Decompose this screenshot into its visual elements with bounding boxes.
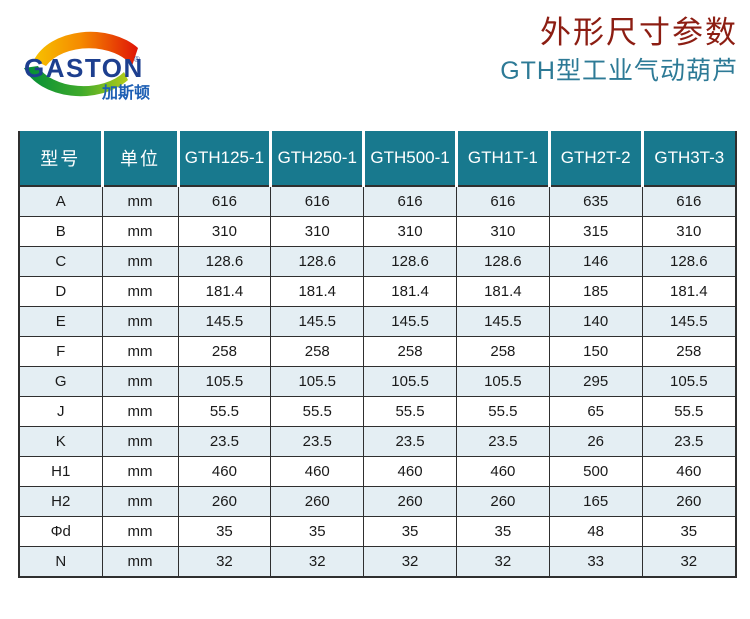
cell-value: 55.5 [642, 397, 735, 427]
cell-value: 616 [642, 186, 735, 217]
cell-value: 181.4 [271, 277, 364, 307]
table-row: Cmm128.6128.6128.6128.6146128.6 [20, 247, 735, 277]
cell-value: 105.5 [642, 367, 735, 397]
logo-chinese-name: 加斯顿 [101, 83, 150, 102]
gaston-logo: GASTON ® 加斯顿 [16, 22, 186, 104]
cell-value: 165 [549, 487, 642, 517]
cell-dimension-label: B [20, 217, 102, 247]
cell-unit: mm [102, 397, 178, 427]
cell-value: 105.5 [364, 367, 457, 397]
cell-value: 55.5 [271, 397, 364, 427]
column-header-model: 型号 [20, 131, 102, 186]
column-header-gth500-1: GTH500-1 [364, 131, 457, 186]
cell-unit: mm [102, 186, 178, 217]
cell-value: 26 [549, 427, 642, 457]
column-header-gth125-1: GTH125-1 [178, 131, 271, 186]
cell-unit: mm [102, 277, 178, 307]
cell-value: 185 [549, 277, 642, 307]
cell-value: 181.4 [456, 277, 549, 307]
cell-value: 310 [364, 217, 457, 247]
cell-dimension-label: Φd [20, 517, 102, 547]
cell-value: 145.5 [642, 307, 735, 337]
cell-value: 35 [271, 517, 364, 547]
table-row: Fmm258258258258150258 [20, 337, 735, 367]
cell-unit: mm [102, 217, 178, 247]
spec-table-container: 型号 单位 GTH125-1 GTH250-1 GTH500-1 GTH1T-1… [18, 131, 737, 578]
column-header-unit: 单位 [102, 131, 178, 186]
cell-value: 260 [364, 487, 457, 517]
cell-value: 48 [549, 517, 642, 547]
cell-unit: mm [102, 517, 178, 547]
cell-value: 32 [178, 547, 271, 577]
cell-value: 128.6 [271, 247, 364, 277]
cell-value: 258 [456, 337, 549, 367]
cell-value: 23.5 [271, 427, 364, 457]
cell-dimension-label: E [20, 307, 102, 337]
cell-value: 32 [271, 547, 364, 577]
column-header-gth2t-2: GTH2T-2 [549, 131, 642, 186]
table-row: Bmm310310310310315310 [20, 217, 735, 247]
cell-unit: mm [102, 307, 178, 337]
table-row: Φdmm353535354835 [20, 517, 735, 547]
column-header-gth3t-3: GTH3T-3 [642, 131, 735, 186]
cell-value: 616 [178, 186, 271, 217]
table-row: Emm145.5145.5145.5145.5140145.5 [20, 307, 735, 337]
cell-value: 55.5 [364, 397, 457, 427]
cell-value: 140 [549, 307, 642, 337]
cell-value: 258 [178, 337, 271, 367]
table-header-row: 型号 单位 GTH125-1 GTH250-1 GTH500-1 GTH1T-1… [20, 131, 735, 186]
cell-unit: mm [102, 457, 178, 487]
table-row: Nmm323232323332 [20, 547, 735, 577]
cell-value: 260 [271, 487, 364, 517]
table-row: H2mm260260260260165260 [20, 487, 735, 517]
cell-value: 145.5 [364, 307, 457, 337]
cell-value: 65 [549, 397, 642, 427]
cell-value: 460 [642, 457, 735, 487]
table-row: Gmm105.5105.5105.5105.5295105.5 [20, 367, 735, 397]
cell-value: 150 [549, 337, 642, 367]
cell-value: 23.5 [642, 427, 735, 457]
cell-unit: mm [102, 487, 178, 517]
cell-value: 35 [456, 517, 549, 547]
cell-dimension-label: G [20, 367, 102, 397]
cell-value: 460 [364, 457, 457, 487]
logo-wordmark: GASTON [24, 53, 144, 83]
cell-dimension-label: A [20, 186, 102, 217]
cell-value: 35 [642, 517, 735, 547]
table-body: Amm616616616616635616Bmm3103103103103153… [20, 186, 735, 576]
page-header: GASTON ® 加斯顿 外形尺寸参数 GTH型工业气动葫芦 [0, 0, 750, 120]
cell-value: 145.5 [456, 307, 549, 337]
cell-value: 145.5 [178, 307, 271, 337]
cell-value: 460 [178, 457, 271, 487]
cell-value: 32 [364, 547, 457, 577]
cell-value: 310 [271, 217, 364, 247]
cell-value: 23.5 [456, 427, 549, 457]
cell-value: 310 [456, 217, 549, 247]
cell-unit: mm [102, 247, 178, 277]
cell-value: 181.4 [178, 277, 271, 307]
cell-dimension-label: H2 [20, 487, 102, 517]
cell-value: 128.6 [364, 247, 457, 277]
cell-value: 128.6 [178, 247, 271, 277]
cell-value: 500 [549, 457, 642, 487]
cell-dimension-label: N [20, 547, 102, 577]
cell-value: 258 [642, 337, 735, 367]
cell-value: 616 [364, 186, 457, 217]
cell-value: 310 [178, 217, 271, 247]
cell-value: 105.5 [456, 367, 549, 397]
column-header-gth250-1: GTH250-1 [271, 131, 364, 186]
cell-value: 128.6 [642, 247, 735, 277]
cell-value: 260 [178, 487, 271, 517]
cell-value: 616 [456, 186, 549, 217]
table-row: H1mm460460460460500460 [20, 457, 735, 487]
dimension-spec-table: 型号 单位 GTH125-1 GTH250-1 GTH500-1 GTH1T-1… [20, 131, 735, 576]
cell-unit: mm [102, 427, 178, 457]
cell-value: 55.5 [456, 397, 549, 427]
cell-value: 460 [456, 457, 549, 487]
cell-value: 310 [642, 217, 735, 247]
cell-unit: mm [102, 547, 178, 577]
cell-dimension-label: C [20, 247, 102, 277]
table-row: Kmm23.523.523.523.52623.5 [20, 427, 735, 457]
cell-value: 23.5 [178, 427, 271, 457]
table-row: Jmm55.555.555.555.56555.5 [20, 397, 735, 427]
cell-value: 260 [456, 487, 549, 517]
cell-unit: mm [102, 367, 178, 397]
cell-value: 32 [456, 547, 549, 577]
cell-value: 146 [549, 247, 642, 277]
cell-value: 23.5 [364, 427, 457, 457]
cell-dimension-label: H1 [20, 457, 102, 487]
cell-value: 32 [642, 547, 735, 577]
cell-unit: mm [102, 337, 178, 367]
cell-value: 55.5 [178, 397, 271, 427]
table-row: Amm616616616616635616 [20, 186, 735, 217]
cell-value: 295 [549, 367, 642, 397]
logo-registered-mark: ® [134, 55, 140, 64]
cell-value: 260 [642, 487, 735, 517]
cell-value: 35 [364, 517, 457, 547]
cell-value: 181.4 [642, 277, 735, 307]
cell-value: 105.5 [271, 367, 364, 397]
cell-value: 35 [178, 517, 271, 547]
cell-dimension-label: J [20, 397, 102, 427]
cell-dimension-label: K [20, 427, 102, 457]
cell-value: 128.6 [456, 247, 549, 277]
cell-value: 315 [549, 217, 642, 247]
cell-value: 181.4 [364, 277, 457, 307]
cell-value: 616 [271, 186, 364, 217]
cell-value: 145.5 [271, 307, 364, 337]
cell-value: 258 [271, 337, 364, 367]
table-row: Dmm181.4181.4181.4181.4185181.4 [20, 277, 735, 307]
cell-value: 105.5 [178, 367, 271, 397]
cell-value: 258 [364, 337, 457, 367]
column-header-gth1t-1: GTH1T-1 [456, 131, 549, 186]
cell-dimension-label: F [20, 337, 102, 367]
page-title: 外形尺寸参数 [500, 14, 738, 52]
cell-value: 460 [271, 457, 364, 487]
cell-value: 635 [549, 186, 642, 217]
title-block: 外形尺寸参数 GTH型工业气动葫芦 [500, 14, 738, 88]
page-subtitle: GTH型工业气动葫芦 [500, 54, 738, 88]
cell-dimension-label: D [20, 277, 102, 307]
cell-value: 33 [549, 547, 642, 577]
